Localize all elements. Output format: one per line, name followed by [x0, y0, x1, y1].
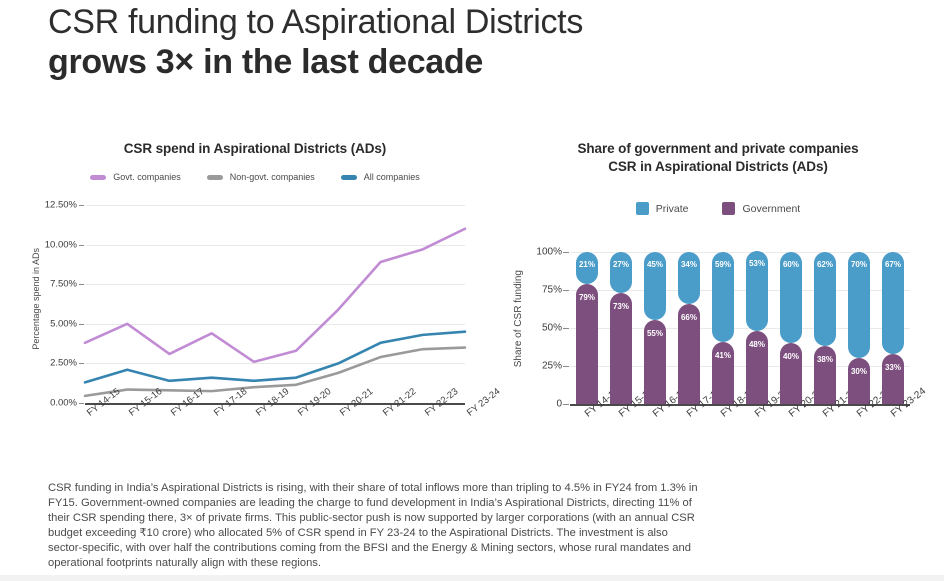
title-line-1: CSR funding to Aspirational Districts: [48, 2, 748, 42]
bar-value-label: 53%: [749, 259, 765, 268]
y-axis-tick-mark: [563, 290, 569, 291]
summary-line: sector-specific, with over half the cont…: [48, 541, 900, 556]
bar-chart-title-line-2: CSR in Aspirational Districts (ADs): [498, 158, 938, 176]
legend-label: Government: [742, 203, 800, 215]
bar-segment-private[interactable]: 27%: [610, 252, 632, 293]
bar-segment-government[interactable]: 48%: [746, 331, 768, 404]
bar-value-label: 66%: [681, 313, 697, 322]
summary-line: operational footprints naturally align w…: [48, 556, 900, 571]
legend-swatch-icon: [636, 202, 649, 215]
bar-chart-title: Share of government and private companie…: [498, 140, 938, 176]
y-axis-tick-label: 7.50%: [50, 279, 77, 290]
bar-segment-private[interactable]: 67%: [882, 252, 904, 354]
bar-value-label: 27%: [613, 260, 629, 269]
y-axis-tick-mark: [563, 328, 569, 329]
y-axis-tick-label: 25%: [542, 361, 562, 372]
bar-column[interactable]: 66%34%: [678, 252, 700, 404]
y-axis-tick-label: 0: [556, 399, 562, 410]
y-axis-tick-label: 100%: [536, 247, 562, 258]
bar-segment-government[interactable]: 40%: [780, 343, 802, 404]
summary-line: FY15. Government-owned companies are lea…: [48, 496, 900, 511]
line-chart-title: CSR spend in Aspirational Districts (ADs…: [20, 140, 490, 158]
summary-line: CSR funding in India’s Aspirational Dist…: [48, 481, 900, 496]
legend-label: Non-govt. companies: [230, 172, 315, 182]
y-axis-tick-mark: [563, 404, 569, 405]
line-chart-legend: Govt. companies Non-govt. companies All …: [20, 172, 490, 182]
bar-column[interactable]: 55%45%: [644, 252, 666, 404]
bar-segment-government[interactable]: 73%: [610, 293, 632, 404]
bar-column[interactable]: 33%67%: [882, 252, 904, 404]
legend-swatch-icon: [90, 175, 106, 180]
legend-item-all-companies[interactable]: All companies: [341, 172, 420, 182]
bar-value-label: 38%: [817, 355, 833, 364]
y-axis-tick-mark: [79, 363, 84, 364]
y-axis-tick-mark: [563, 252, 569, 253]
bar-column[interactable]: 79%21%: [576, 252, 598, 404]
legend-item-non-govt-companies[interactable]: Non-govt. companies: [207, 172, 315, 182]
bar-segment-government[interactable]: 55%: [644, 320, 666, 404]
bar-segment-government[interactable]: 66%: [678, 304, 700, 404]
legend-label: All companies: [364, 172, 420, 182]
summary-line: their CSR spending there, 3× of private …: [48, 511, 900, 526]
summary-line: budget exceeding ₹10 crore) who allocate…: [48, 526, 900, 541]
bottom-divider: [0, 575, 944, 581]
bar-chart-legend: Private Government: [498, 202, 938, 215]
y-axis-tick-label: 0.00%: [50, 398, 77, 409]
bar-segment-government[interactable]: 33%: [882, 354, 904, 404]
line-chart-y-axis-title: Percentage spend in ADs: [31, 248, 41, 350]
legend-swatch-icon: [341, 175, 357, 180]
bar-segment-private[interactable]: 70%: [848, 252, 870, 358]
bar-value-label: 34%: [681, 260, 697, 269]
summary-paragraph: CSR funding in India’s Aspirational Dist…: [48, 481, 900, 572]
y-axis-tick-mark: [79, 324, 84, 325]
bar-segment-private[interactable]: 53%: [746, 251, 768, 332]
bar-column[interactable]: 48%53%: [746, 252, 768, 404]
bar-segment-private[interactable]: 45%: [644, 252, 666, 320]
legend-swatch-icon: [207, 175, 223, 180]
title-line-2: grows 3× in the last decade: [48, 42, 748, 82]
legend-label: Private: [656, 203, 689, 215]
line-series-group: [85, 205, 465, 403]
bar-chart-title-line-1: Share of government and private companie…: [498, 140, 938, 158]
bar-value-label: 73%: [613, 302, 629, 311]
y-axis-tick-label: 12.50%: [45, 200, 77, 211]
legend-swatch-icon: [722, 202, 735, 215]
bar-segment-government[interactable]: 79%: [576, 284, 598, 404]
y-axis-tick-mark: [79, 403, 84, 404]
bar-segment-private[interactable]: 21%: [576, 252, 598, 284]
bar-column[interactable]: 73%27%: [610, 252, 632, 404]
bar-value-label: 40%: [783, 352, 799, 361]
y-axis-tick-mark: [79, 245, 84, 246]
bar-column[interactable]: 38%62%: [814, 252, 836, 404]
bar-segment-private[interactable]: 34%: [678, 252, 700, 304]
line-chart-plot-area: 0.00%2.50%5.00%7.50%10.00%12.50%FY 14-15…: [85, 205, 465, 403]
bar-chart-plot-area: 025%50%75%100%79%21%FY 14-1573%27%FY 15-…: [570, 252, 910, 404]
legend-label: Govt. companies: [113, 172, 181, 182]
y-axis-tick-label: 5.00%: [50, 318, 77, 329]
bar-value-label: 79%: [579, 293, 595, 302]
infographic-page: CSR funding to Aspirational Districts gr…: [0, 0, 944, 581]
legend-item-private[interactable]: Private: [636, 202, 689, 215]
bar-value-label: 62%: [817, 260, 833, 269]
y-axis-tick-mark: [563, 366, 569, 367]
y-axis-tick-mark: [79, 284, 84, 285]
bar-column[interactable]: 30%70%: [848, 252, 870, 404]
bar-value-label: 41%: [715, 351, 731, 360]
bar-value-label: 59%: [715, 260, 731, 269]
y-axis-tick-mark: [79, 205, 84, 206]
bar-column[interactable]: 41%59%: [712, 252, 734, 404]
bar-value-label: 21%: [579, 260, 595, 269]
bar-value-label: 67%: [885, 260, 901, 269]
bar-value-label: 48%: [749, 340, 765, 349]
y-axis-tick-label: 75%: [542, 285, 562, 296]
bar-value-label: 55%: [647, 329, 663, 338]
page-title: CSR funding to Aspirational Districts gr…: [48, 2, 748, 82]
y-axis-tick-label: 10.00%: [45, 239, 77, 250]
bar-column[interactable]: 40%60%: [780, 252, 802, 404]
bar-value-label: 45%: [647, 260, 663, 269]
bar-value-label: 70%: [851, 260, 867, 269]
bar-segment-private[interactable]: 62%: [814, 252, 836, 346]
bar-segment-government[interactable]: 41%: [712, 342, 734, 404]
legend-item-government[interactable]: Government: [722, 202, 800, 215]
bar-segment-government[interactable]: 38%: [814, 346, 836, 404]
bar-value-label: 33%: [885, 363, 901, 372]
bar-segment-government[interactable]: 30%: [848, 358, 870, 404]
bar-value-label: 60%: [783, 260, 799, 269]
bar-segment-private[interactable]: 60%: [780, 252, 802, 343]
legend-item-govt-companies[interactable]: Govt. companies: [90, 172, 181, 182]
bar-chart-y-axis-title: Share of CSR funding: [513, 270, 524, 367]
bar-value-label: 30%: [851, 367, 867, 376]
bar-segment-private[interactable]: 59%: [712, 252, 734, 342]
line-series: [85, 229, 465, 362]
y-axis-tick-label: 50%: [542, 323, 562, 334]
y-axis-tick-label: 2.50%: [50, 358, 77, 369]
